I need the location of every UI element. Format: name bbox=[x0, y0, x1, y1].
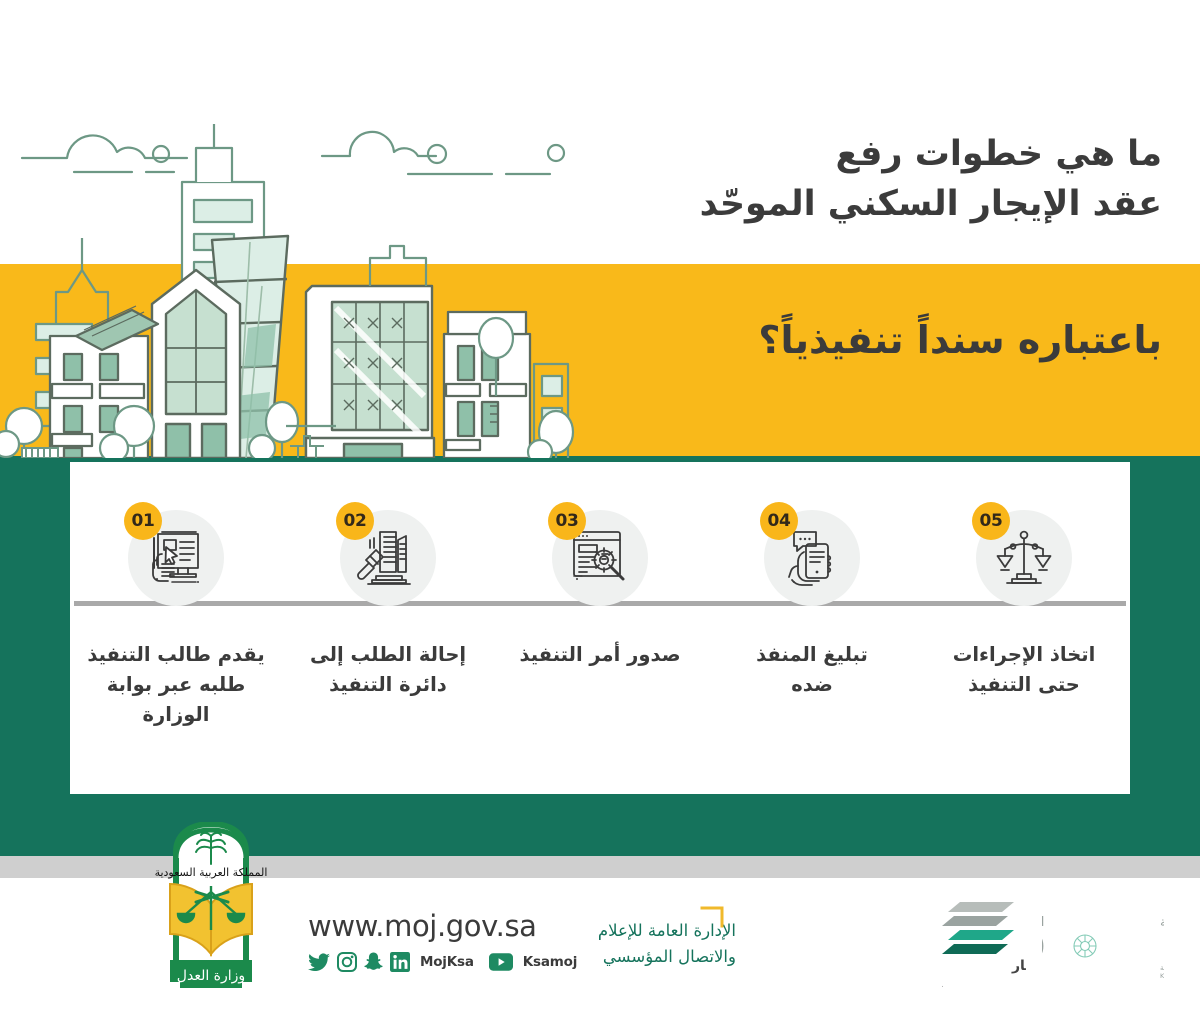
step-label-line-1: صدور أمر التنفيذ bbox=[519, 640, 680, 670]
twitter-icon[interactable] bbox=[308, 953, 330, 972]
step-label: اتخاذ الإجراءات حتى التنفيذ bbox=[953, 640, 1096, 700]
vision-emblem-ornament bbox=[1074, 935, 1096, 957]
step-label-line-2: دائرة التنفيذ bbox=[310, 670, 466, 700]
step-label: يقدم طالب التنفيذ طلبه عبر بوابة الوزارة bbox=[81, 640, 271, 731]
step-label-line-1: تبليغ المنفذ bbox=[756, 640, 868, 670]
step-label-line-2: حتى التنفيذ bbox=[953, 670, 1096, 700]
social-links-row: MojKsa Ksamoj bbox=[308, 952, 585, 972]
step-number-badge: 02 bbox=[336, 502, 374, 540]
step-item[interactable]: 04 تبليغ المنفذ ضده bbox=[706, 462, 918, 794]
corner-bracket-icon bbox=[700, 906, 724, 928]
step-label-line-1: اتخاذ الإجراءات bbox=[953, 640, 1096, 670]
step-number-badge: 04 bbox=[760, 502, 798, 540]
headline-line-1: ما هي خطوات رفع bbox=[522, 130, 1162, 180]
instagram-icon[interactable] bbox=[337, 952, 357, 972]
step-number-badge: 03 bbox=[548, 502, 586, 540]
headline-line-2: عقد الإيجار السكني الموحّد bbox=[522, 180, 1162, 230]
step-label: صدور أمر التنفيذ bbox=[519, 640, 680, 670]
step-number-badge: 01 bbox=[124, 502, 162, 540]
linkedin-icon[interactable] bbox=[390, 952, 410, 972]
footer-contact-block: www.moj.gov.sa MojKsa bbox=[308, 912, 585, 972]
step-label-line-2: ضده bbox=[756, 670, 868, 700]
step-icon-wrap: 03 bbox=[552, 510, 648, 606]
step-icon-wrap: 05 bbox=[976, 510, 1072, 606]
emblem-kingdom-text: المملكة العربية السعودية bbox=[155, 866, 268, 879]
infographic-page: ما هي خطوات رفع عقد الإيجار السكني الموح… bbox=[0, 0, 1200, 1020]
city-skyline-illustration bbox=[0, 96, 600, 458]
department-line-2: والاتصال المؤسسي bbox=[556, 944, 736, 970]
twitter-handle-label: MojKsa bbox=[420, 954, 474, 970]
step-icon-wrap: 04 bbox=[764, 510, 860, 606]
step-item[interactable]: 03 صدور أمر التنفيذ bbox=[494, 462, 706, 794]
vision-year-label: 2030 bbox=[1042, 927, 1044, 966]
moj-website-url[interactable]: www.moj.gov.sa bbox=[308, 912, 585, 941]
ejar-logo: إيجــار EJAR bbox=[942, 898, 1026, 990]
step-item[interactable]: 05 اتخاذ الإجراءات حتى التنفيذ bbox=[918, 462, 1130, 794]
step-label-line-1: يقدم طالب التنفيذ bbox=[81, 640, 271, 670]
ejar-latin-label: EJAR bbox=[942, 968, 946, 990]
steps-row: 05 اتخاذ الإجراءات حتى التنفيذ bbox=[70, 462, 1130, 794]
steps-card: 05 اتخاذ الإجراءات حتى التنفيذ bbox=[70, 462, 1130, 794]
ejar-arabic-label: إيجــار bbox=[1011, 958, 1026, 974]
step-label-line-1: إحالة الطلب إلى bbox=[310, 640, 466, 670]
emblem-ministry-text: وزارة العدل bbox=[177, 968, 245, 984]
step-icon-wrap: 02 bbox=[340, 510, 436, 606]
step-label: إحالة الطلب إلى دائرة التنفيذ bbox=[310, 640, 466, 700]
moj-emblem-logo: المملكة العربية السعودية وزارة العدل bbox=[136, 822, 286, 994]
vision-kingdom-english-label: KINGDOM OF SAUDI ARABIA bbox=[1160, 972, 1164, 980]
step-label-line-2: طلبه عبر بوابة الوزارة bbox=[81, 670, 271, 730]
headline: ما هي خطوات رفع عقد الإيجار السكني الموح… bbox=[522, 130, 1162, 229]
vision-arabic-label: رؤيــة bbox=[1160, 915, 1164, 930]
step-icon-wrap: 01 bbox=[128, 510, 224, 606]
vision-2030-logo: VISION رؤيــة 2030 المملكة العربية السعو… bbox=[1042, 910, 1164, 980]
snapchat-icon[interactable] bbox=[364, 952, 383, 972]
step-item[interactable]: 02 إحالة الطلب إلى دائرة التنفيذ bbox=[282, 462, 494, 794]
step-label: تبليغ المنفذ ضده bbox=[756, 640, 868, 700]
vision-kingdom-arabic-label: المملكة العربية السعودية bbox=[1160, 964, 1164, 972]
youtube-icon[interactable] bbox=[489, 953, 513, 971]
step-number-badge: 05 bbox=[972, 502, 1010, 540]
subheadline: باعتباره سنداً تنفيذياً؟ bbox=[522, 316, 1162, 365]
step-item[interactable]: 01 يقدم طالب التنفيذ طلبه عبر بوابة الوز… bbox=[70, 462, 282, 794]
